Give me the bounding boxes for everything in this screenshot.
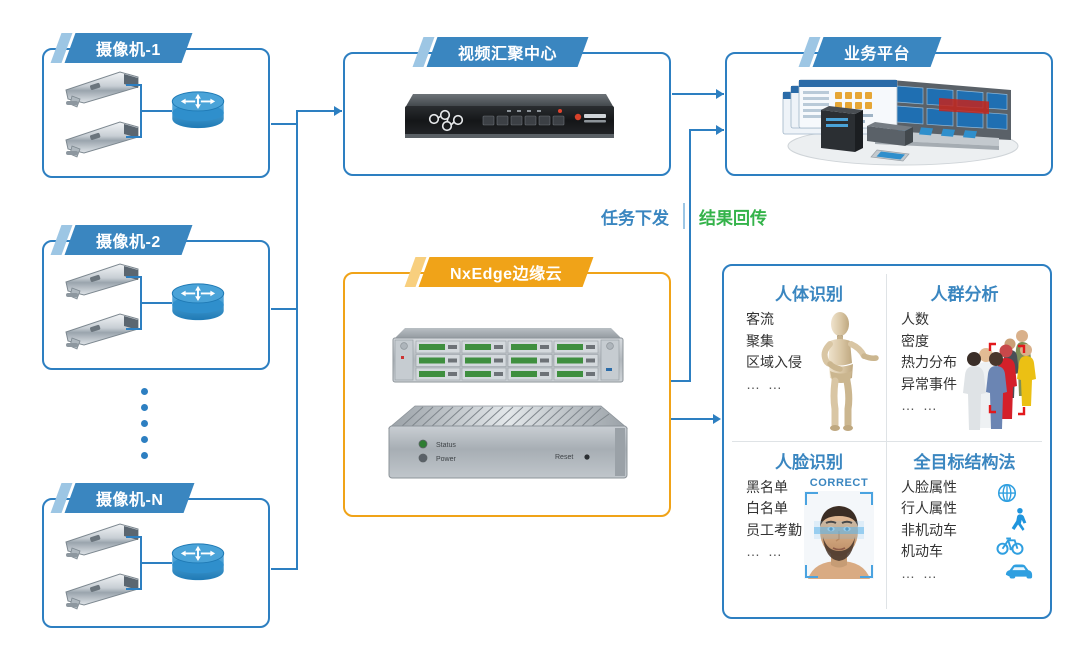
arrow-nxedge-to-capabilities [713,414,721,424]
capability-item-ellipsis: … … [901,397,957,415]
cctv-camera-icon [58,310,144,350]
face-globe-icon [996,482,1018,504]
crowd-photo-icon [958,317,1042,437]
car-icon [1004,561,1034,581]
capability-body: 人脸属性 行人属性 非机动车 机动车 … … [891,479,1038,599]
camera-group-1 [42,48,270,178]
camera-group-2-content [44,242,268,368]
capability-body: 黑名单 白名单 员工考勤 … … CORRECT [736,479,882,599]
capability-item-ellipsis: … … [746,543,802,561]
camera-trunk-line [296,110,298,570]
capability-title: 人群分析 [891,280,1038,305]
arrow-video-center-to-platform [716,89,724,99]
capability-item-ellipsis: … … [901,565,957,583]
capability-panel: 人体识别 客流 聚集 区域入侵 … … [722,264,1052,619]
camera-wire-top [126,276,142,278]
capability-item: 黑名单 [746,479,802,497]
capability-face-recognition: 人脸识别 黑名单 白名单 员工考勤 … … CORRECT [732,442,887,610]
connector-task-dispatch-vertical [689,129,691,382]
connector-cam1-to-trunk [271,123,298,125]
control-room-video-wall-icon [763,64,1025,169]
flow-labels: 任务下发 结果回传 [601,203,767,229]
cctv-camera-icon [58,68,144,108]
business-platform-box [725,52,1053,176]
capability-item: 行人属性 [901,500,957,518]
capability-body: 客流 聚集 区域入侵 … … [736,311,882,431]
video-aggregation-center-label: 视频汇聚中心 [458,40,557,64]
capability-item: 热力分布 [901,354,957,372]
camera-wire-bottom [126,136,142,138]
architecture-diagram: 摄像机-1 [0,0,1079,669]
capability-title: 全目标结构法 [891,448,1038,473]
capability-item: 异常事件 [901,376,957,394]
camera-groups-ellipsis [141,388,148,459]
camera-group-1-banner: 摄像机-1 [70,33,187,63]
capability-title: 人体识别 [736,280,882,305]
face-bracket-icon [805,565,818,578]
car-icon-slot [996,559,1034,583]
fanless-reset-label: Reset [555,454,573,461]
ellipsis-dot [141,420,148,427]
face-bracket-icon [860,565,873,578]
video-aggregation-center-box [343,52,671,176]
bicycle-icon [996,534,1024,556]
capability-items: 黑名单 白名单 员工考勤 … … [736,479,802,599]
cctv-camera-icon [58,118,144,158]
capability-grid: 人体识别 客流 聚集 区域入侵 … … [732,274,1042,609]
video-aggregation-center-banner: 视频汇聚中心 [432,37,583,67]
capability-item: 人数 [901,311,957,329]
fanless-edge-box-icon: Status Power Reset [379,402,637,484]
capability-item-ellipsis: … … [746,376,802,394]
router-icon [170,90,226,130]
cctv-camera-icon [58,520,144,560]
face-globe-icon-slot [996,481,1034,505]
face-bracket-icon [805,492,818,505]
structuring-icon-column [996,481,1034,583]
arrow-trunk-to-video-center [334,106,342,116]
nxedge-edge-cloud-banner: NxEdge边缘云 [424,257,588,287]
cctv-camera-icon [58,260,144,300]
router-icon [170,542,226,582]
capability-human-recognition: 人体识别 客流 聚集 区域入侵 … … [732,274,887,442]
camera-wire-to-router [140,302,172,304]
flow-label-result-return: 结果回传 [699,204,767,229]
nxedge-edge-cloud-label: NxEdge边缘云 [450,260,562,284]
fanless-status-label: Status [436,442,456,449]
capability-items: 人脸属性 行人属性 非机动车 机动车 … … [891,479,957,599]
camera-group-1-label: 摄像机-1 [96,36,161,60]
rack-server-icon [387,326,627,388]
camera-group-n-banner: 摄像机-N [70,483,189,513]
business-platform-label: 业务平台 [844,40,910,64]
capability-item: 白名单 [746,500,802,518]
capability-crowd-analysis: 人群分析 人数 密度 热力分布 异常事件 … … [887,274,1042,442]
camera-wire-to-router [140,562,172,564]
camera-group-1-content [44,50,268,176]
face-bracket-icon [860,492,873,505]
camera-wire-top [126,536,142,538]
connector-nxedge-to-capabilities [667,418,719,420]
capability-item: 区域入侵 [746,354,802,372]
connector-cam2-to-trunk [271,308,298,310]
ellipsis-dot [141,388,148,395]
capability-item: 人脸属性 [901,479,957,497]
bicycle-icon-slot [996,533,1034,557]
nxedge-edge-cloud-box: Status Power Reset [343,272,671,517]
fanless-power-label: Power [436,456,457,463]
capability-item: 非机动车 [901,522,957,540]
pedestrian-icon [1008,507,1030,531]
face-correct-badge: CORRECT [802,477,876,489]
capability-item: 机动车 [901,543,957,561]
mannequin-figure-icon [802,311,880,431]
arrow-task-dispatch-into-platform [716,125,724,135]
capability-items: 人数 密度 热力分布 异常事件 … … [891,311,957,431]
camera-group-n-content [44,500,268,626]
business-platform-banner: 业务平台 [818,37,936,67]
connector-camN-to-trunk [271,568,298,570]
face-detection-thumbnail: CORRECT [802,477,876,579]
ellipsis-dot [141,404,148,411]
capability-title: 人脸识别 [736,448,882,473]
camera-wire-bottom [126,588,142,590]
ellipsis-dot [141,436,148,443]
flow-label-divider [683,203,685,229]
capability-items: 客流 聚集 区域入侵 … … [736,311,802,431]
capability-item: 客流 [746,311,802,329]
capability-item: 密度 [901,333,957,351]
ellipsis-dot [141,452,148,459]
router-icon [170,282,226,322]
camera-group-2 [42,240,270,370]
camera-group-2-label: 摄像机-2 [96,228,161,252]
capability-item: 聚集 [746,333,802,351]
face-thumb-image [804,491,874,579]
camera-group-n-label: 摄像机-N [96,486,163,510]
capability-full-target-structuring: 全目标结构法 人脸属性 行人属性 非机动车 机动车 … … [887,442,1042,610]
camera-wire-top [126,84,142,86]
cctv-camera-icon [58,570,144,610]
capability-body: 人数 密度 热力分布 异常事件 … … [891,311,1038,431]
pedestrian-icon-slot [996,507,1034,531]
capability-item: 员工考勤 [746,522,802,540]
camera-wire-bottom [126,328,142,330]
camera-group-n [42,498,270,628]
camera-group-2-banner: 摄像机-2 [70,225,187,255]
camera-wire-to-router [140,110,172,112]
flow-label-task-dispatch: 任务下发 [601,204,669,229]
nvr-appliance-icon [397,86,622,146]
